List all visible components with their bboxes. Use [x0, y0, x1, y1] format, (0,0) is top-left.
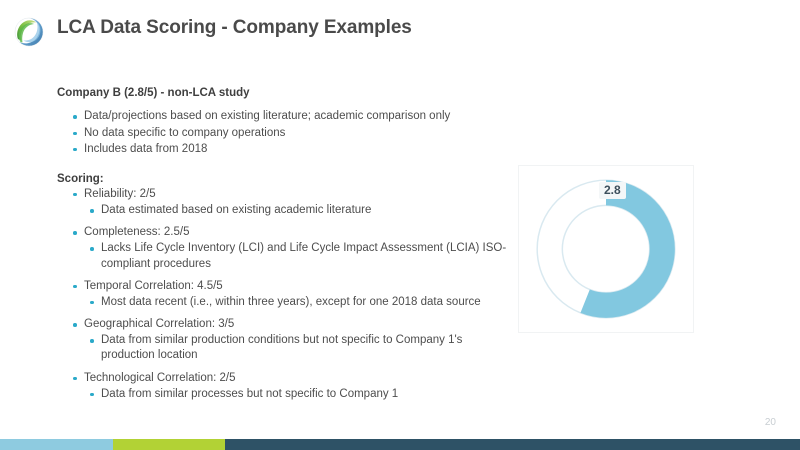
score-detail-list: Most data recent (i.e., within three yea…	[57, 295, 517, 310]
score-detail: Lacks Life Cycle Inventory (LCI) and Lif…	[90, 241, 517, 271]
scoring-heading: Scoring:	[57, 172, 517, 187]
page-title: LCA Data Scoring - Company Examples	[57, 17, 412, 39]
score-detail: Data from similar production conditions …	[90, 333, 517, 363]
list-item: No data specific to company operations	[73, 126, 517, 141]
company-logo-swoosh-icon	[13, 16, 45, 48]
score-bullet-list: Technological Correlation: 2/5	[57, 371, 517, 386]
score-detail: Most data recent (i.e., within three yea…	[90, 295, 517, 310]
score-bullet-list: Reliability: 2/5	[57, 187, 517, 202]
score-detail-list: Data from similar production conditions …	[57, 333, 517, 363]
score-bullet-list: Temporal Correlation: 4.5/5	[57, 279, 517, 294]
score-label: Geographical Correlation: 3/5	[73, 317, 517, 332]
slide-content: Company B (2.8/5) - non-LCA study Data/p…	[57, 86, 517, 402]
donut-track-outline-inner	[562, 205, 649, 292]
score-label: Technological Correlation: 2/5	[73, 371, 517, 386]
score-group-completeness: Completeness: 2.5/5 Lacks Life Cycle Inv…	[57, 225, 517, 272]
list-item: Data/projections based on existing liter…	[73, 109, 517, 124]
score-detail-list: Lacks Life Cycle Inventory (LCI) and Lif…	[57, 241, 517, 271]
footer-segment-green	[113, 439, 225, 450]
donut-value-label: 2.8	[599, 182, 626, 199]
score-group-reliability: Reliability: 2/5 Data estimated based on…	[57, 187, 517, 218]
scoring-block: Scoring: Reliability: 2/5 Data estimated…	[57, 172, 517, 402]
slide-header: LCA Data Scoring - Company Examples	[0, 0, 800, 58]
score-detail: Data from similar processes but not spec…	[90, 387, 517, 402]
score-label: Temporal Correlation: 4.5/5	[73, 279, 517, 294]
intro-bullet-list: Data/projections based on existing liter…	[57, 109, 517, 157]
score-group-temporal-correlation: Temporal Correlation: 4.5/5 Most data re…	[57, 279, 517, 310]
score-group-technological-correlation: Technological Correlation: 2/5 Data from…	[57, 371, 517, 402]
score-label: Reliability: 2/5	[73, 187, 517, 202]
list-item: Includes data from 2018	[73, 142, 517, 157]
page-number: 20	[765, 417, 776, 428]
donut-chart-panel: 2.8	[518, 165, 694, 333]
footer-segment-navy	[225, 439, 800, 450]
footer-accent-bar	[0, 439, 800, 450]
slide-root: LCA Data Scoring - Company Examples Comp…	[0, 0, 800, 450]
donut-chart: 2.8	[532, 175, 680, 323]
score-detail-list: Data from similar processes but not spec…	[57, 387, 517, 402]
score-bullet-list: Geographical Correlation: 3/5	[57, 317, 517, 332]
score-group-geographical-correlation: Geographical Correlation: 3/5 Data from …	[57, 317, 517, 364]
score-label: Completeness: 2.5/5	[73, 225, 517, 240]
score-bullet-list: Completeness: 2.5/5	[57, 225, 517, 240]
intro-block: Company B (2.8/5) - non-LCA study Data/p…	[57, 86, 517, 157]
company-heading: Company B (2.8/5) - non-LCA study	[57, 86, 517, 100]
score-detail-list: Data estimated based on existing academi…	[57, 203, 517, 218]
footer-segment-blue	[0, 439, 113, 450]
score-detail: Data estimated based on existing academi…	[90, 203, 517, 218]
